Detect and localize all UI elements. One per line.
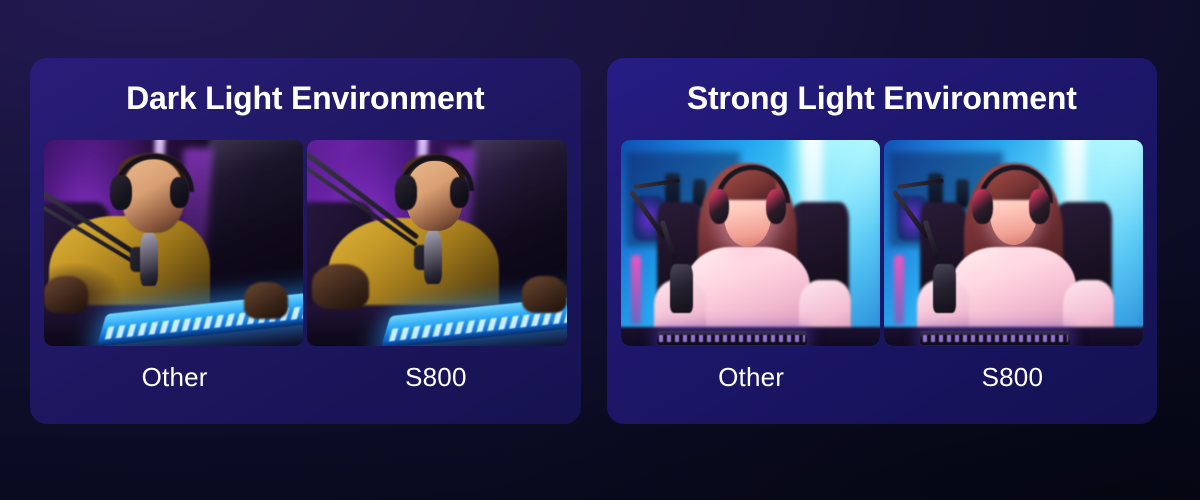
scene-strong-s800 (884, 140, 1143, 346)
keyboard-keys (659, 335, 804, 342)
thumbnail-strong-other[interactable] (621, 140, 880, 346)
headphone-earcup-left (972, 189, 993, 224)
microphone (424, 231, 442, 285)
thumbnail-dark-other[interactable] (44, 140, 303, 346)
hand-right (244, 282, 288, 319)
headphone-earcup-right (450, 177, 469, 208)
scene-dark-other (44, 140, 303, 346)
keyboard-keys (923, 335, 1068, 342)
microphone (933, 264, 956, 313)
panel-dark-light-environment: Dark Light Environment (30, 58, 581, 424)
hand-left (44, 276, 88, 313)
headphone-earcup-right (1029, 189, 1050, 224)
caption-strong-s800: S800 (882, 362, 1143, 393)
panel-title-strong: Strong Light Environment (607, 58, 1158, 114)
microphone (140, 233, 158, 287)
pink-light-strip (894, 255, 904, 325)
product-comparison-banner: Dark Light Environment (0, 0, 1200, 500)
caption-row-dark: Other S800 (30, 362, 581, 393)
hand-right (522, 276, 566, 313)
headphone-earcup-left (709, 189, 730, 224)
hand-left (312, 264, 369, 309)
headphone-earcup-left (110, 175, 132, 210)
thumbnail-row-strong (607, 140, 1158, 346)
scene-strong-other (621, 140, 880, 346)
caption-row-strong: Other S800 (607, 362, 1158, 393)
headphone-earcup-left (395, 175, 417, 210)
panels-container: Dark Light Environment (0, 0, 1200, 500)
caption-dark-other: Other (44, 362, 305, 393)
panel-strong-light-environment: Strong Light Environment (607, 58, 1158, 424)
thumbnail-row-dark (30, 140, 581, 346)
pink-light-strip (631, 255, 641, 325)
headphone-earcup-right (766, 189, 787, 224)
caption-strong-other: Other (621, 362, 882, 393)
panel-title-dark: Dark Light Environment (30, 58, 581, 114)
scene-dark-s800 (307, 140, 566, 346)
headphone-earcup-right (170, 177, 189, 208)
thumbnail-strong-s800[interactable] (884, 140, 1143, 346)
caption-dark-s800: S800 (305, 362, 566, 393)
thumbnail-dark-s800[interactable] (307, 140, 566, 346)
microphone (670, 264, 693, 313)
